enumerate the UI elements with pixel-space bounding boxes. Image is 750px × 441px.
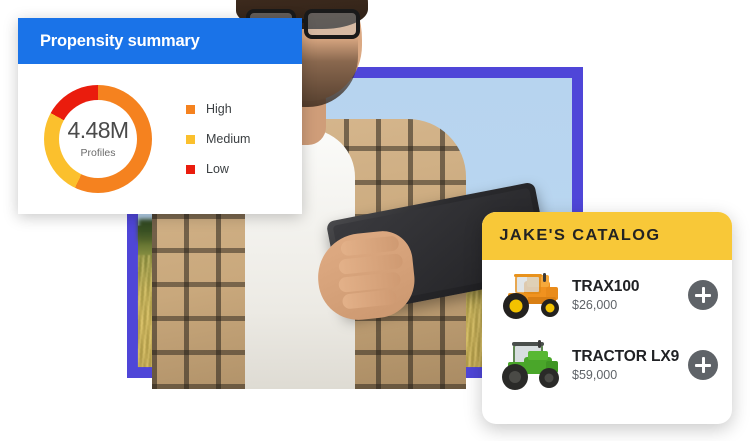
metric-label: Profiles — [80, 147, 115, 159]
propensity-summary-card: Propensity summary 4.48M Profiles High M… — [18, 18, 302, 214]
legend-swatch-icon — [186, 135, 195, 144]
lens-right — [304, 9, 360, 39]
legend-swatch-icon — [186, 105, 195, 114]
item-price: $26,000 — [572, 298, 688, 312]
add-item-button[interactable] — [688, 350, 718, 380]
legend-label: High — [206, 102, 232, 116]
item-price: $59,000 — [572, 368, 688, 382]
legend-label: Medium — [206, 132, 250, 146]
donut-chart: 4.48M Profiles — [44, 85, 152, 193]
legend-swatch-icon — [186, 165, 195, 174]
orange-tractor-icon — [494, 267, 566, 323]
add-item-button[interactable] — [688, 280, 718, 310]
item-name: TRAX100 — [572, 278, 688, 296]
legend-item-medium: Medium — [186, 132, 250, 146]
list-item[interactable]: TRAX100 $26,000 — [482, 260, 732, 330]
list-item[interactable]: TRACTOR LX9 $59,000 — [482, 330, 732, 400]
propensity-card-body: 4.48M Profiles High Medium Low — [18, 64, 302, 214]
catalog-title: JAKE'S CATALOG — [499, 227, 660, 245]
legend-label: Low — [206, 162, 229, 176]
item-info: TRAX100 $26,000 — [566, 278, 688, 312]
legend-item-high: High — [186, 102, 250, 116]
donut-center-label: 4.48M Profiles — [44, 85, 152, 193]
catalog-card-header: JAKE'S CATALOG — [482, 212, 732, 260]
metric-value: 4.48M — [68, 119, 129, 142]
page-title: Propensity summary — [40, 32, 200, 51]
catalog-card: JAKE'S CATALOG TRAX100 $26,000 — [482, 212, 732, 424]
chart-legend: High Medium Low — [186, 102, 250, 176]
item-name: TRACTOR LX9 — [572, 348, 688, 366]
green-tractor-icon — [494, 337, 566, 393]
item-info: TRACTOR LX9 $59,000 — [566, 348, 688, 382]
propensity-card-header: Propensity summary — [18, 18, 302, 64]
legend-item-low: Low — [186, 162, 250, 176]
